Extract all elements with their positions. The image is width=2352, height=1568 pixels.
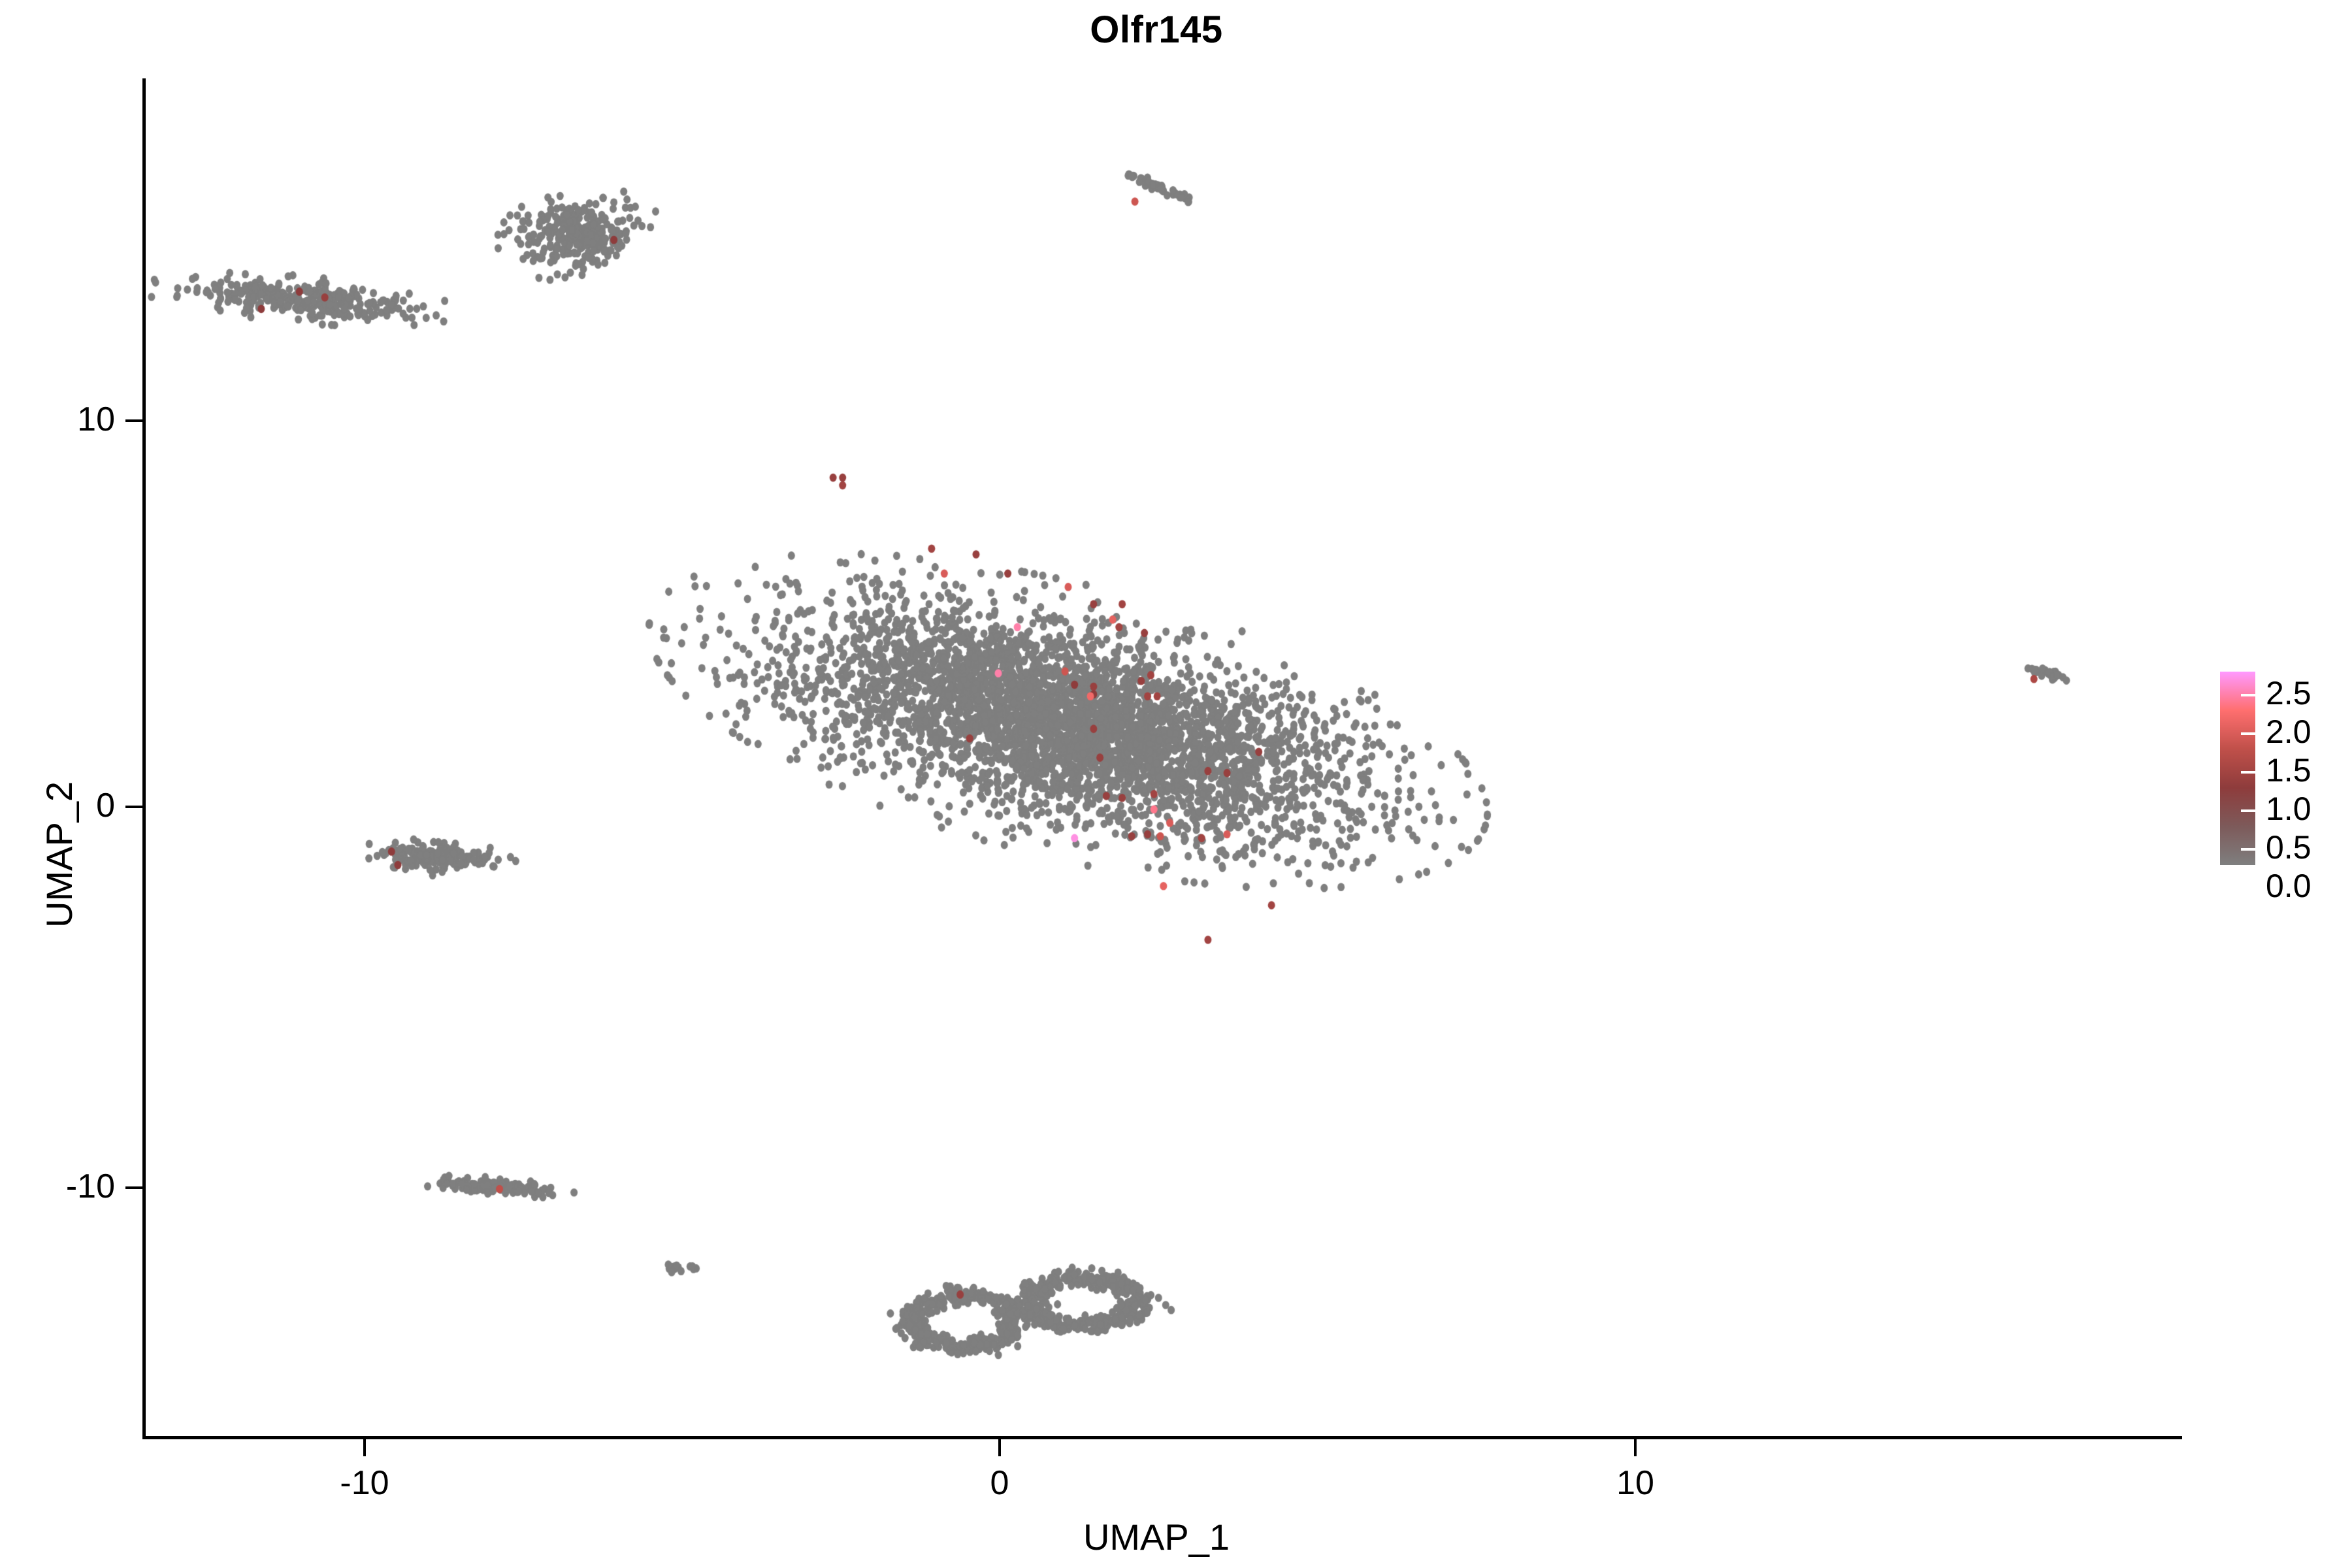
y-tick-mark (125, 806, 142, 808)
y-tick-label: -10 (0, 1167, 115, 1206)
x-axis-label: UMAP_1 (0, 1516, 2313, 1558)
x-tick-label: -10 (286, 1463, 443, 1503)
plot-panel (144, 78, 2182, 1437)
x-tick-label: 0 (921, 1463, 1078, 1503)
colorbar-label: 1.5 (2266, 754, 2311, 787)
colorbar-tick (2241, 809, 2255, 812)
colorbar-label: 1.0 (2266, 792, 2311, 825)
y-tick-mark (125, 419, 142, 422)
colorbar-tick (2241, 848, 2255, 851)
y-axis-label: UMAP_2 (38, 781, 80, 928)
colorbar-label: 0.5 (2266, 831, 2311, 864)
colorbar-tick (2241, 672, 2255, 674)
colorbar-label: 0.0 (2266, 870, 2311, 902)
page-title: Olfr145 (0, 8, 2313, 52)
x-tick-mark (363, 1439, 366, 1456)
scatter-canvas (144, 78, 2182, 1437)
colorbar-tick (2241, 771, 2255, 774)
colorbar-label: 2.0 (2266, 715, 2311, 748)
colorbar-gradient (2220, 672, 2255, 865)
y-axis-line (142, 78, 146, 1439)
x-axis-line (142, 1436, 2182, 1439)
x-tick-mark (1634, 1439, 1637, 1456)
umap-feature-plot: Olfr145 -10 0 10 10 0 -10 UMAP_1 UMAP_2 … (0, 0, 2352, 1568)
colorbar-tick (2241, 694, 2255, 696)
y-tick-label: 10 (0, 400, 115, 439)
x-tick-mark (998, 1439, 1001, 1456)
y-tick-mark (125, 1186, 142, 1189)
colorbar-label: 2.5 (2266, 677, 2311, 710)
x-tick-label: 10 (1557, 1463, 1714, 1503)
colorbar-tick (2241, 732, 2255, 735)
